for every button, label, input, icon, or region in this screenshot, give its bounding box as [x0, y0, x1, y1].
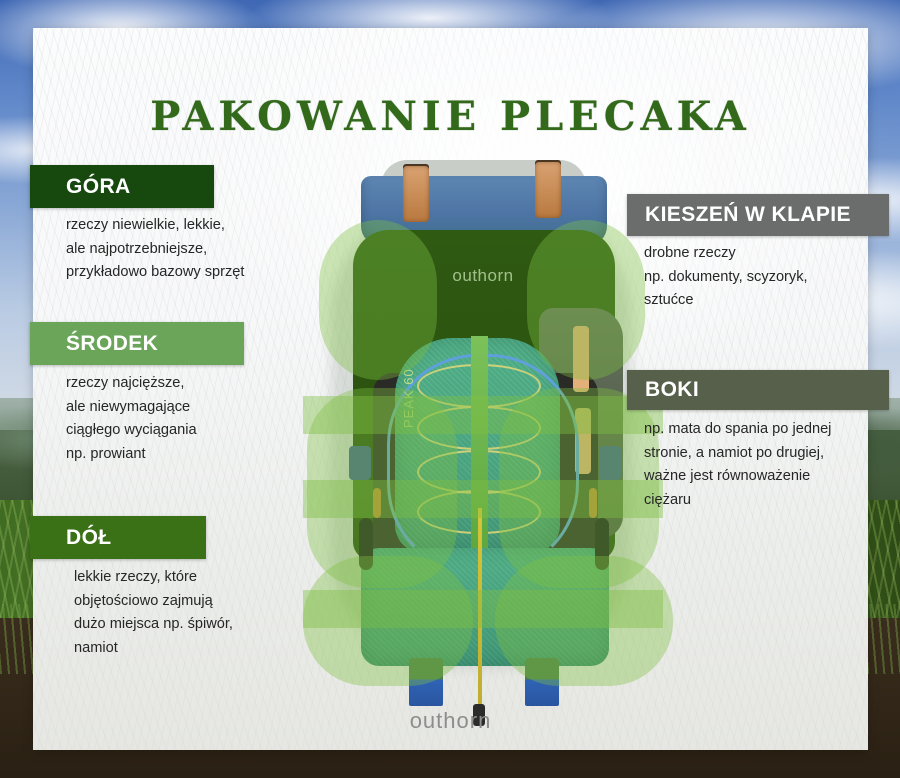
lid-strap-right	[535, 162, 561, 218]
infographic-card: PAKOWANIE PLECAKA outhorn PEAK 60	[33, 28, 868, 750]
highlight-blob-2	[527, 220, 645, 380]
section-label-srodek: ŚRODEK	[30, 322, 244, 365]
backpack-illustration: outhorn PEAK 60	[313, 158, 653, 703]
highlight-stripe-2	[303, 480, 663, 518]
section-text-dol: lekkie rzeczy, które objętościowo zajmuj…	[74, 566, 364, 661]
lid-strap-left	[403, 166, 429, 222]
section-text-gora: rzeczy niewielkie, lekkie, ale najpotrze…	[66, 214, 356, 285]
section-label-gora: GÓRA	[30, 165, 214, 208]
section-text-kieszen-w-klapie: drobne rzeczy np. dokumenty, scyzoryk, s…	[644, 242, 894, 313]
highlight-stripe-1	[303, 396, 663, 434]
page-title: PAKOWANIE PLECAKA	[33, 93, 868, 140]
section-label-dol: DÓŁ	[30, 516, 206, 559]
section-label-boki: BOKI	[627, 370, 889, 410]
section-text-srodek: rzeczy najcięższe, ale niewymagające cią…	[66, 372, 356, 467]
footer-brand-logo: outhorn	[33, 708, 868, 734]
section-label-kieszen-w-klapie: KIESZEŃ W KLAPIE	[627, 194, 889, 236]
section-text-boki: np. mata do spania po jednej stronie, a …	[644, 418, 894, 513]
